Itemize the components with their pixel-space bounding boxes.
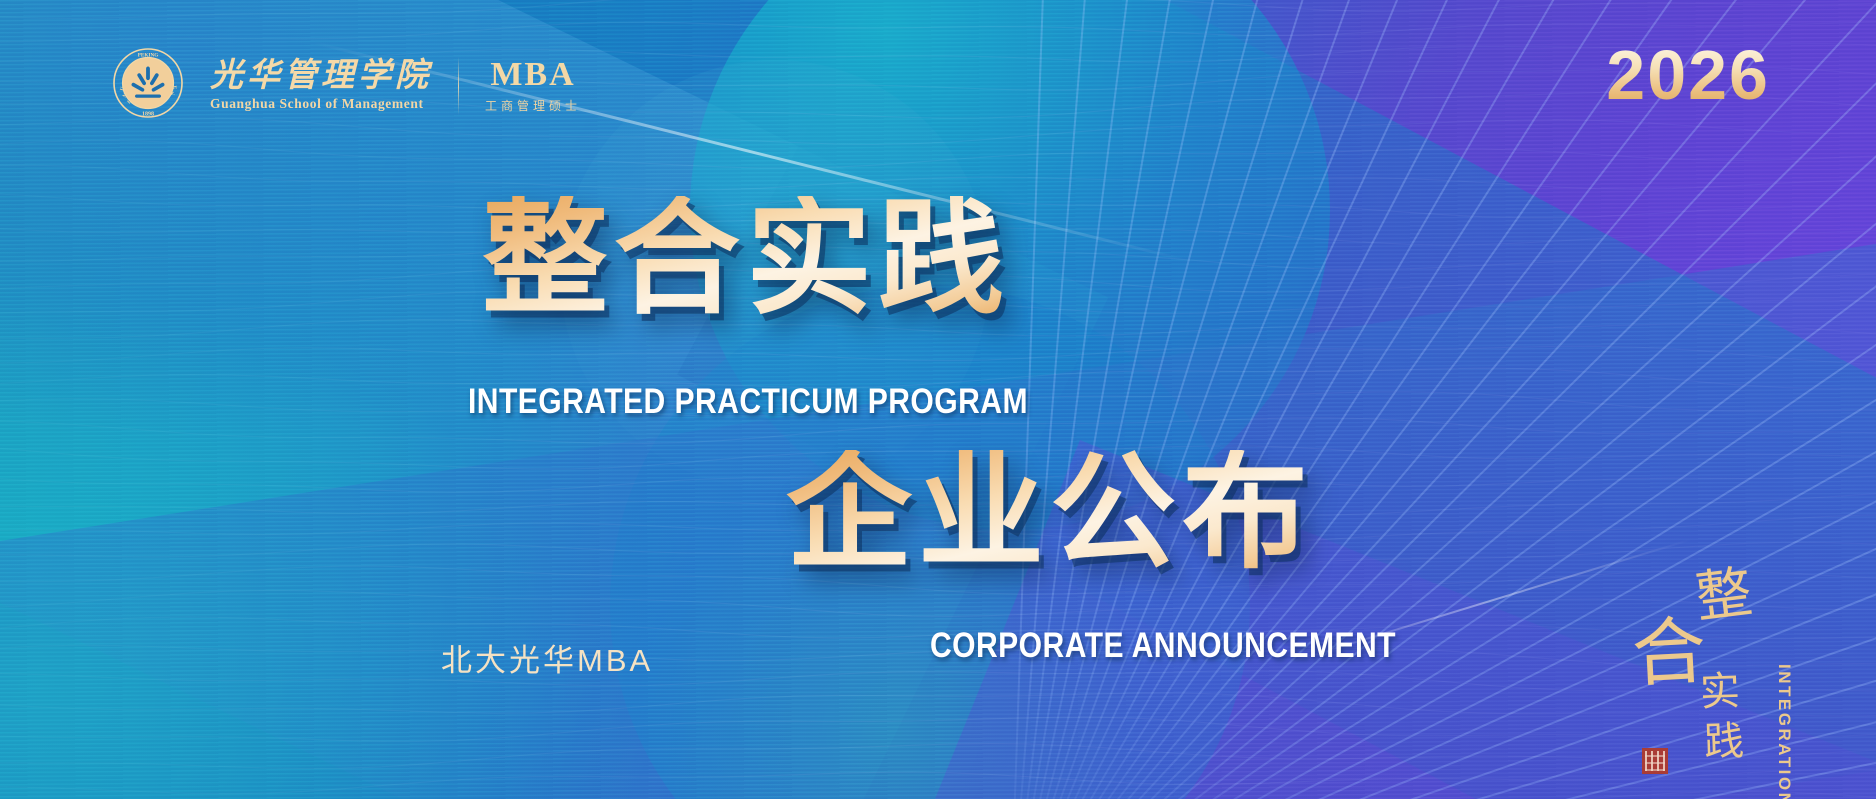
banner-root: PEKING U N I V E 1898 光华管理学院 Guanghua Sc… [0,0,1876,799]
mba-program-block: MBA 工商管理硕士 [485,58,581,114]
integration-vertical-label: INTEGRATION [1774,664,1794,799]
mba-label-en: MBA [490,58,575,92]
brand-label: 北大光华MBA [441,635,653,680]
svg-text:1898: 1898 [142,112,154,118]
school-name-cn: 光华管理学院 [210,60,432,93]
peking-university-seal-icon: PEKING U N I V E 1898 [112,47,184,124]
red-seal-stamp-icon [1642,748,1668,774]
headline-primary-cn: 整合实践 [482,196,1010,322]
school-name-en: Guanghua School of Management [210,96,432,112]
calligraphy-char-jian: 践 [1703,721,1744,762]
calligraphy-char-he: 合 [1630,614,1708,692]
calligraphy-char-shi: 实 [1699,671,1740,712]
banner-content: PEKING U N I V E 1898 光华管理学院 Guanghua Sc… [0,0,1876,799]
svg-text:E: E [171,85,178,90]
calligraphy-seal-cluster: 整 合 实 践 INTEGRATION [1638,572,1818,772]
logo-lockup[interactable]: PEKING U N I V E 1898 光华管理学院 Guanghua Sc… [112,47,581,124]
headline-secondary-cn: 企业公布 [786,450,1314,576]
logo-divider [458,57,459,115]
year-badge: 2026 [1606,40,1770,110]
school-name-block: 光华管理学院 Guanghua School of Management [210,60,432,112]
mba-label-cn: 工商管理硕士 [485,97,581,114]
headline-secondary-en: CORPORATE ANNOUNCEMENT [930,626,1396,666]
headline-primary-en: INTEGRATED PRACTICUM PROGRAM [468,382,1028,422]
svg-text:PEKING: PEKING [138,53,158,59]
